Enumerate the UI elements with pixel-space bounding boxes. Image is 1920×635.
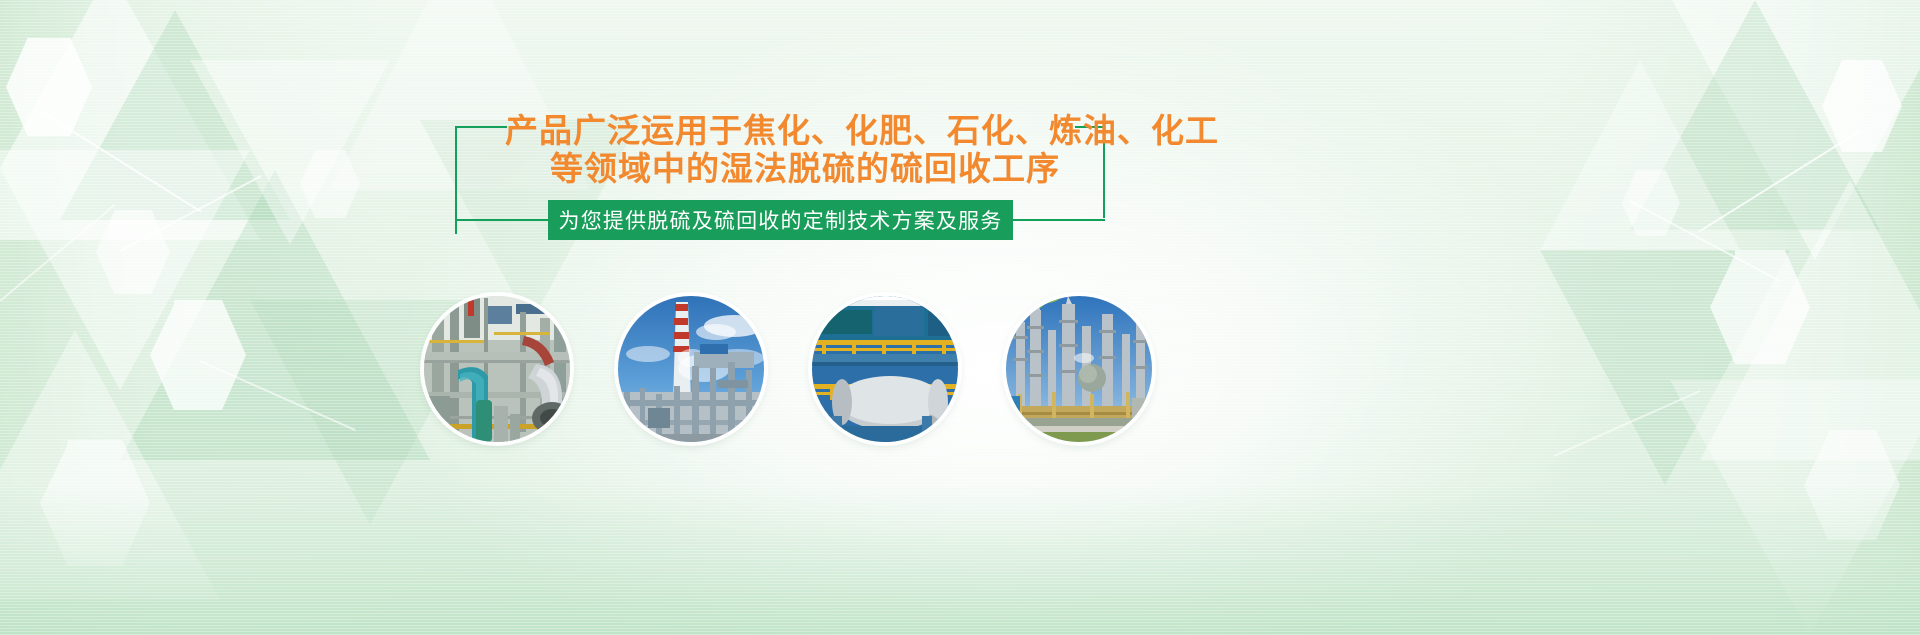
photo-image	[1006, 296, 1152, 442]
hero-banner: 产品广泛运用于焦化、化肥、石化、炼油、化工 等领域中的湿法脱硫的硫回收工序 为您…	[0, 0, 1920, 635]
photo-image	[618, 296, 764, 442]
connector-line	[39, 110, 201, 212]
triangle-shape	[1630, 0, 1880, 230]
triangle-shape	[120, 170, 430, 460]
triangle-shape	[0, 0, 260, 240]
photo-image	[424, 296, 570, 442]
triangle-shape	[0, 150, 250, 390]
hexagon-outline-shape	[1804, 430, 1900, 540]
triangle-shape	[1540, 60, 1740, 250]
hexagon-shape	[1822, 60, 1902, 152]
hexagon-shape	[300, 150, 360, 218]
hexagon-shape	[6, 38, 92, 136]
connector-line	[120, 175, 262, 252]
bottom-horizon-wash	[0, 485, 1920, 635]
connector-line	[0, 204, 116, 302]
hexagon-outline-shape	[150, 300, 246, 410]
photo-power-plant-chimney[interactable]	[618, 296, 764, 442]
photo-sulfur-recovery-unit[interactable]	[812, 296, 958, 442]
hexagon-shape	[1622, 170, 1680, 236]
connector-line	[1698, 130, 1860, 232]
triangle-shape	[60, 10, 290, 220]
frame-tick-left	[455, 126, 457, 234]
headline-line-2: 等领域中的湿法脱硫的硫回收工序	[505, 150, 1105, 188]
photo-desulfurization-piping-plant[interactable]	[424, 296, 570, 442]
photo-image	[812, 296, 958, 442]
frame-segment-left	[455, 126, 507, 128]
connector-line	[1553, 390, 1700, 457]
photo-refinery-towers[interactable]	[1006, 296, 1152, 442]
headline-line-1: 产品广泛运用于焦化、化肥、石化、炼油、化工	[505, 112, 1105, 150]
triangle-shape	[0, 330, 220, 600]
triangle-shape	[1540, 250, 1790, 485]
subtitle-text: 为您提供脱硫及硫回收的定制技术方案及服务	[559, 205, 1003, 235]
triangle-shape	[190, 60, 390, 245]
connector-line	[200, 360, 356, 431]
triangle-shape	[1700, 180, 1920, 460]
subtitle-banner: 为您提供脱硫及硫回收的定制技术方案及服务	[548, 200, 1013, 240]
hexagon-shape	[96, 210, 170, 294]
subtitle-frame-tail	[1013, 219, 1105, 221]
hexagon-outline-shape	[1710, 250, 1810, 364]
connector-line	[1629, 200, 1780, 282]
triangle-shape	[1650, 0, 1920, 260]
triangle-shape	[1670, 380, 1920, 635]
page-title: 产品广泛运用于焦化、化肥、石化、炼油、化工 等领域中的湿法脱硫的硫回收工序	[505, 112, 1105, 188]
hexagon-outline-shape	[40, 440, 150, 566]
photo-gallery	[424, 296, 1152, 442]
